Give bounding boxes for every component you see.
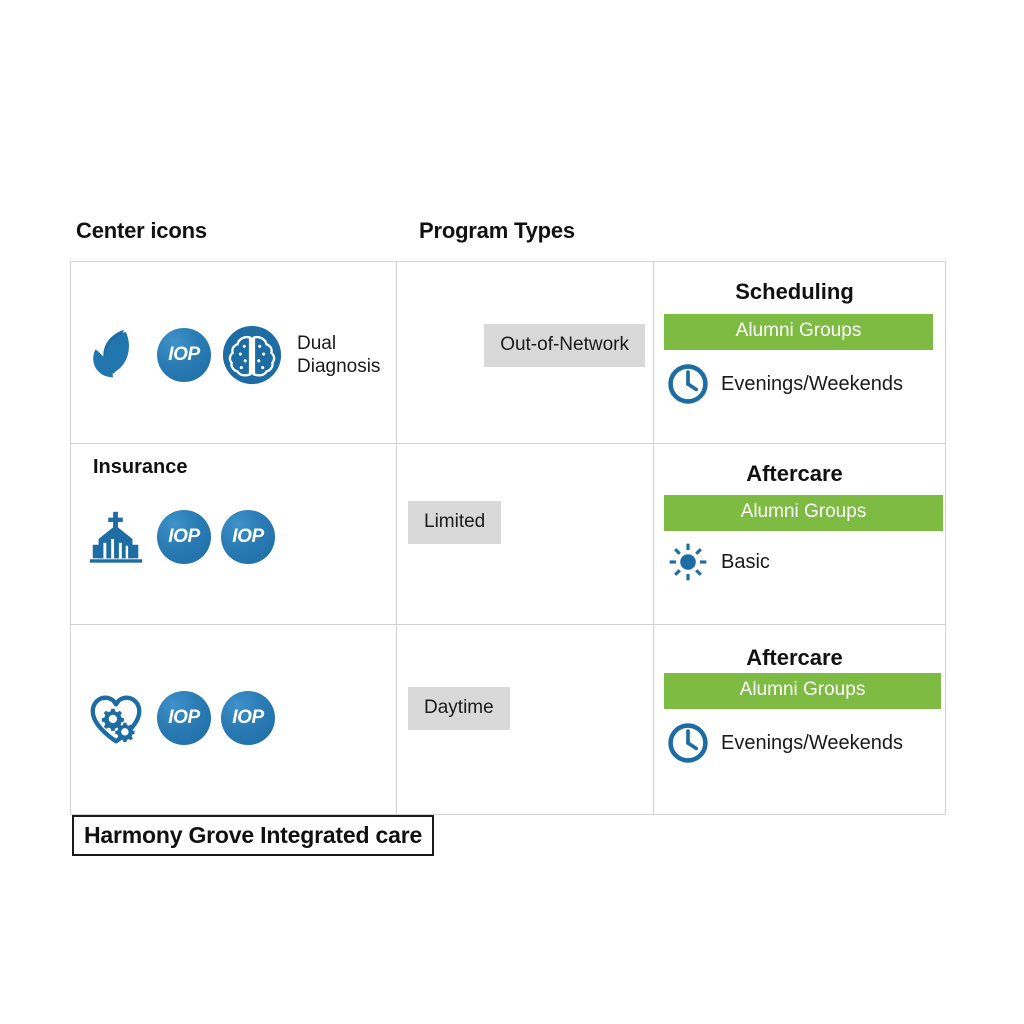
iop-badge-icon: IOP [157,510,211,564]
scheduling-footer-label: Evenings/Weekends [721,732,903,755]
sun-icon [666,540,710,584]
alumni-groups-banner: Alumni Groups [664,314,933,350]
iop-badge-icon: IOP [221,691,275,745]
alumni-groups-banner: Alumni Groups [664,673,941,709]
center-icons-cell: IOP IOP [71,625,397,814]
scheduling-cell: Aftercare Alumni Groups Evenings/Weekend… [654,625,945,814]
hospital-icon [85,506,147,568]
center-icons-cell: IOP Dual Diagnosis [71,262,397,443]
caption-text: Harmony Grove Integrated care [84,822,422,849]
iop-badge-icon: IOP [221,510,275,564]
scheduling-footer-label: Evenings/Weekends [721,373,903,396]
icon-caption: Dual Diagnosis [297,332,380,378]
program-chip: Limited [408,501,501,544]
heart-gears-icon [85,687,147,749]
program-types-cell: Out-of-Network [397,262,654,443]
clock-icon [666,721,710,765]
column-header-program-types: Program Types [419,218,575,244]
row-title: Insurance [93,456,187,479]
scheduling-title: Aftercare [654,461,935,487]
scheduling-footer-label: Basic [721,551,770,574]
icon-strip: IOP IOP [85,687,289,749]
scheduling-footer: Evenings/Weekends [666,362,903,406]
clock-icon [666,362,710,406]
program-types-cell: Limited [397,444,654,624]
caption-box: Harmony Grove Integrated care [72,815,434,856]
scheduling-cell: Scheduling Alumni Groups Evenings/Weeken… [654,262,945,443]
icon-strip: IOP Dual Diagnosis [85,324,380,386]
iop-badge-icon: IOP [157,691,211,745]
scheduling-footer: Basic [666,540,770,584]
scheduling-title: Aftercare [654,645,935,671]
scheduling-title: Scheduling [654,279,935,305]
table-row: IOP Dual Diagnosis [71,262,945,444]
icon-strip: IOP IOP [85,506,289,568]
center-icons-cell: Insurance [71,444,397,624]
scheduling-footer: Evenings/Weekends [666,721,903,765]
leaf-icon [85,324,147,386]
program-types-cell: Daytime [397,625,654,814]
column-header-center-icons: Center icons [76,218,207,244]
scheduling-cell: Aftercare Alumni Groups [654,444,945,624]
alumni-groups-banner: Alumni Groups [664,495,943,531]
iop-badge-icon: IOP [157,328,211,382]
column-headers: Center icons Program Types [76,218,956,258]
table-row: Insurance [71,444,945,625]
brain-icon [221,324,283,386]
program-chip: Daytime [408,687,510,730]
table-row: IOP IOP Daytime Aftercare Alumni Groups [71,625,945,814]
comparison-table: IOP Dual Diagnosis [70,261,946,815]
diagram-canvas: Center icons Program Types IOP [0,0,1024,1024]
program-chip: Out-of-Network [484,324,645,367]
